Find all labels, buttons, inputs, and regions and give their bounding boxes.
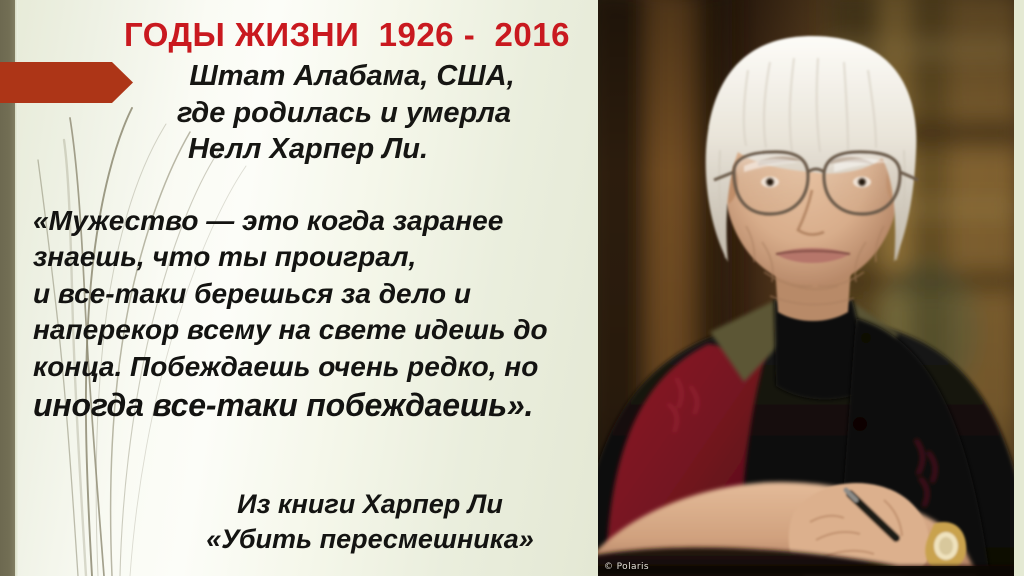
slide-canvas: ГОДЫ ЖИЗНИ 1926 - 2016 Штат Алабама, США… [0, 0, 1024, 576]
text-panel: ГОДЫ ЖИЗНИ 1926 - 2016 Штат Алабама, США… [0, 0, 598, 576]
attribution-line-1: Из книги Харпер Ли [150, 487, 590, 522]
quote-line-5: конца. Побеждаешь очень редко, но [33, 349, 593, 385]
page-title-years: ГОДЫ ЖИЗНИ 1926 - 2016 [108, 18, 586, 53]
subtitle-line-3: Нелл Харпер Ли. [130, 131, 560, 168]
subtitle-line-1: Штат Алабама, США, [130, 58, 560, 95]
right-cream-strip [1014, 0, 1024, 576]
quote-line-4: наперекор всему на свете идешь до [33, 312, 593, 348]
quote-block: «Мужество — это когда заранее знаешь, чт… [33, 203, 593, 427]
attribution-line-2: «Убить пересмешника» [150, 522, 590, 557]
quote-line-6: иногда все-таки побеждаешь». [33, 385, 593, 427]
subtitle-line-2: где родилась и умерла [130, 95, 560, 132]
right-arrow-banner [0, 62, 134, 103]
quote-line-1: «Мужество — это когда заранее [33, 203, 593, 239]
quote-line-3: и все-таки берешься за дело и [33, 276, 593, 312]
subtitle-block: Штат Алабама, США, где родилась и умерла… [130, 58, 560, 168]
photo-copyright-watermark: © Polaris [604, 562, 649, 572]
quote-line-2: знаешь, что ты проиграл, [33, 239, 593, 275]
portrait-photo-harper-lee: © Polaris [598, 0, 1014, 576]
attribution-block: Из книги Харпер Ли «Убить пересмешника» [150, 487, 590, 556]
